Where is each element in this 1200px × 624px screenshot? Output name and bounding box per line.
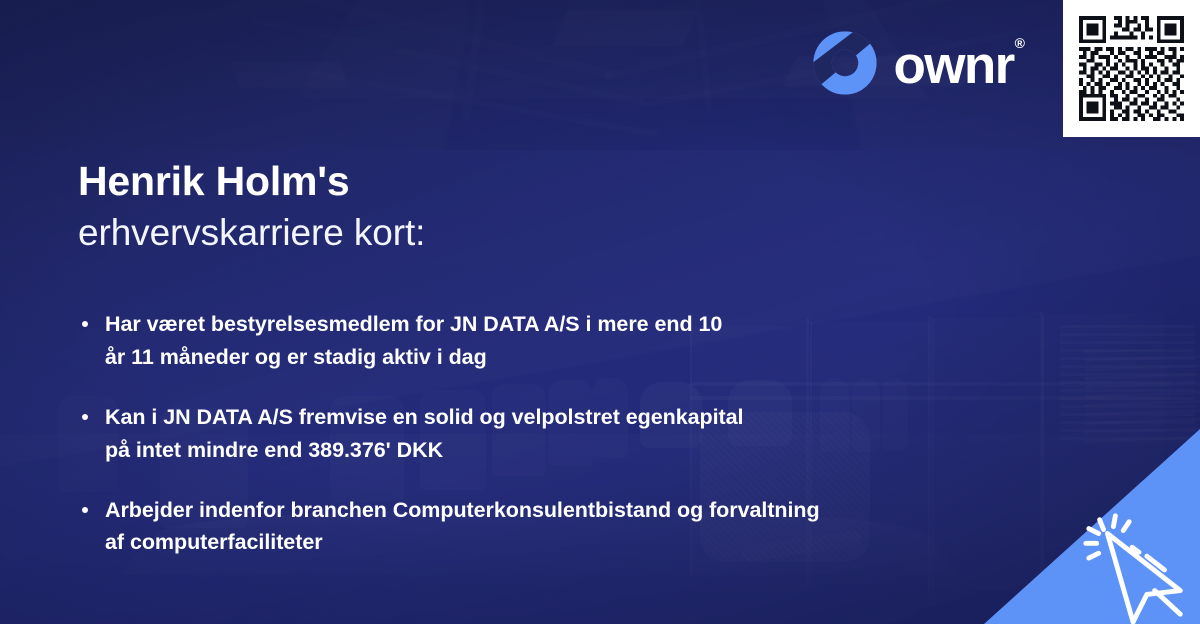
career-facts-list: Har været bestyrelsesmedlem for JN DATA …	[78, 308, 1008, 586]
list-item: Kan i JN DATA A/S fremvise en solid og v…	[78, 401, 1008, 467]
ownr-wordmark-text: ownr	[893, 36, 1013, 95]
page-title-secondary: erhvervskarriere kort:	[78, 212, 425, 254]
list-item: Arbejder indenfor branchen Computerkonsu…	[78, 494, 1008, 560]
registered-trademark-symbol: ®	[1015, 35, 1025, 51]
business-card-banner: ownr®	[0, 0, 1200, 624]
list-item-line2: af computerfaciliteter	[105, 526, 1008, 559]
list-item-line1: Arbejder indenfor branchen Computerkonsu…	[105, 498, 820, 522]
list-item-line1: Kan i JN DATA A/S fremvise en solid og v…	[105, 405, 743, 429]
list-item-line2: år 11 måneder og er stadig aktiv i dag	[105, 341, 1008, 374]
list-item-line1: Har været bestyrelsesmedlem for JN DATA …	[105, 312, 722, 336]
ownr-circle-swirl-icon	[812, 30, 878, 96]
bullet-dot-icon	[82, 507, 88, 513]
ownr-wordmark: ownr®	[893, 39, 1025, 92]
bullet-dot-icon	[82, 321, 88, 327]
list-item: Har været bestyrelsesmedlem for JN DATA …	[78, 308, 1008, 374]
page-title-primary: Henrik Holm's	[78, 158, 349, 205]
list-item-line2: på intet mindre end 389.376' DKK	[105, 434, 1008, 467]
qr-code-icon	[1075, 12, 1188, 125]
ownr-logo[interactable]: ownr®	[812, 30, 1025, 96]
click-cursor-icon	[1078, 504, 1196, 624]
bullet-dot-icon	[82, 414, 88, 420]
qr-code-panel[interactable]	[1063, 0, 1200, 137]
